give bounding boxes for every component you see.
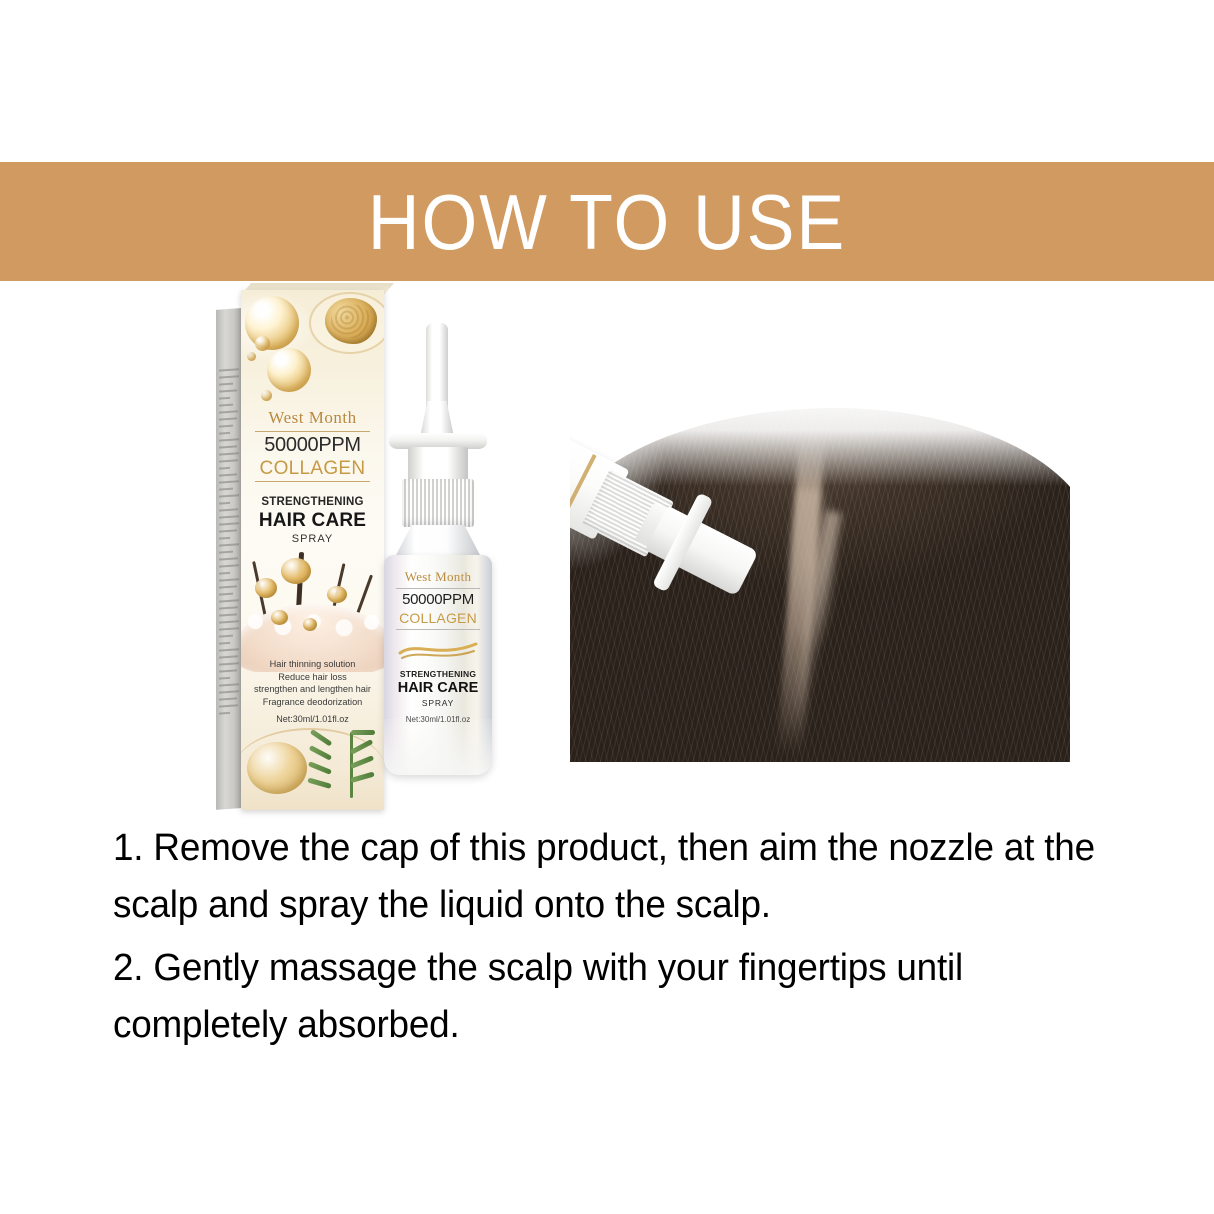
carton-form: SPRAY (241, 533, 384, 545)
application-photo (570, 390, 1070, 762)
product-showcase: West Month 50000PPM COLLAGEN STRENGTHENI… (0, 281, 1214, 811)
serum-droplet-icon (247, 742, 307, 794)
bottle-body: West Month 50000PPM COLLAGEN STRENGTHENI… (384, 555, 492, 775)
benefit-item: Reduce hair loss (245, 671, 380, 684)
carton-benefits-list: Hair thinning solution Reduce hair loss … (245, 658, 380, 708)
gold-nugget-icon (325, 298, 377, 344)
serum-droplet-icon (281, 558, 311, 584)
instruction-step: 2. Gently massage the scalp with your fi… (113, 940, 1141, 1054)
bottle-liquid (384, 719, 492, 775)
carton-front-panel: West Month 50000PPM COLLAGEN STRENGTHENI… (241, 290, 384, 810)
serum-droplet-icon (303, 618, 317, 631)
spray-bottle: West Month 50000PPM COLLAGEN STRENGTHENI… (378, 323, 508, 793)
serum-droplet-icon (327, 586, 347, 603)
divider (255, 481, 370, 482)
oil-bubble-icon (255, 336, 270, 351)
serum-droplet-icon (255, 578, 277, 598)
bottle-ppm: 50000PPM (384, 591, 492, 608)
benefit-item: Hair thinning solution (245, 658, 380, 671)
page-title: HOW TO USE (368, 183, 846, 261)
carton-ingredient: COLLAGEN (241, 458, 384, 480)
carton-side-panel (216, 308, 242, 810)
product-carton-box: West Month 50000PPM COLLAGEN STRENGTHENI… (216, 290, 384, 814)
carton-ppm: 50000PPM (241, 434, 384, 457)
bottle-shoulder (394, 525, 482, 559)
golden-bubbles-artwork (241, 290, 384, 418)
divider (396, 588, 480, 589)
oil-bubble-icon (267, 348, 311, 392)
carton-side-text-lines (219, 368, 239, 769)
instruction-step: 1. Remove the cap of this product, then … (113, 820, 1141, 934)
carton-strengthening: STRENGTHENING (241, 496, 384, 508)
bottle-form: SPRAY (384, 698, 492, 708)
oil-bubble-icon (261, 390, 272, 401)
usage-instructions: 1. Remove the cap of this product, then … (113, 820, 1173, 1054)
carton-category: HAIR CARE (241, 510, 384, 532)
bottle-strengthening: STRENGTHENING (384, 669, 492, 679)
pump-ribbed-cap (402, 479, 474, 527)
pump-collar (408, 447, 468, 481)
green-herb-sprig-icon (327, 730, 379, 802)
oil-bubble-icon (247, 352, 256, 361)
benefit-item: Fragrance deodorization (245, 696, 380, 709)
bottle-brand: West Month (384, 569, 492, 585)
benefit-item: strengthen and lengthen hair (245, 683, 380, 696)
gold-swoosh-icon (398, 637, 478, 663)
hair-follicle-illustration (241, 552, 384, 672)
divider (255, 431, 370, 432)
bottle-category: HAIR CARE (384, 680, 492, 696)
carton-brand: West Month (241, 408, 384, 428)
carton-net-contents: Net:30ml/1.01fl.oz (241, 714, 384, 724)
divider (396, 629, 480, 630)
bottle-net-contents: Net:30ml/1.01fl.oz (384, 715, 492, 724)
oil-bubble-icon (245, 296, 299, 350)
how-to-use-banner: HOW TO USE (0, 162, 1214, 281)
nozzle-tip-icon (426, 323, 448, 409)
serum-droplet-icon (271, 610, 288, 625)
bottle-ingredient: COLLAGEN (384, 610, 492, 626)
